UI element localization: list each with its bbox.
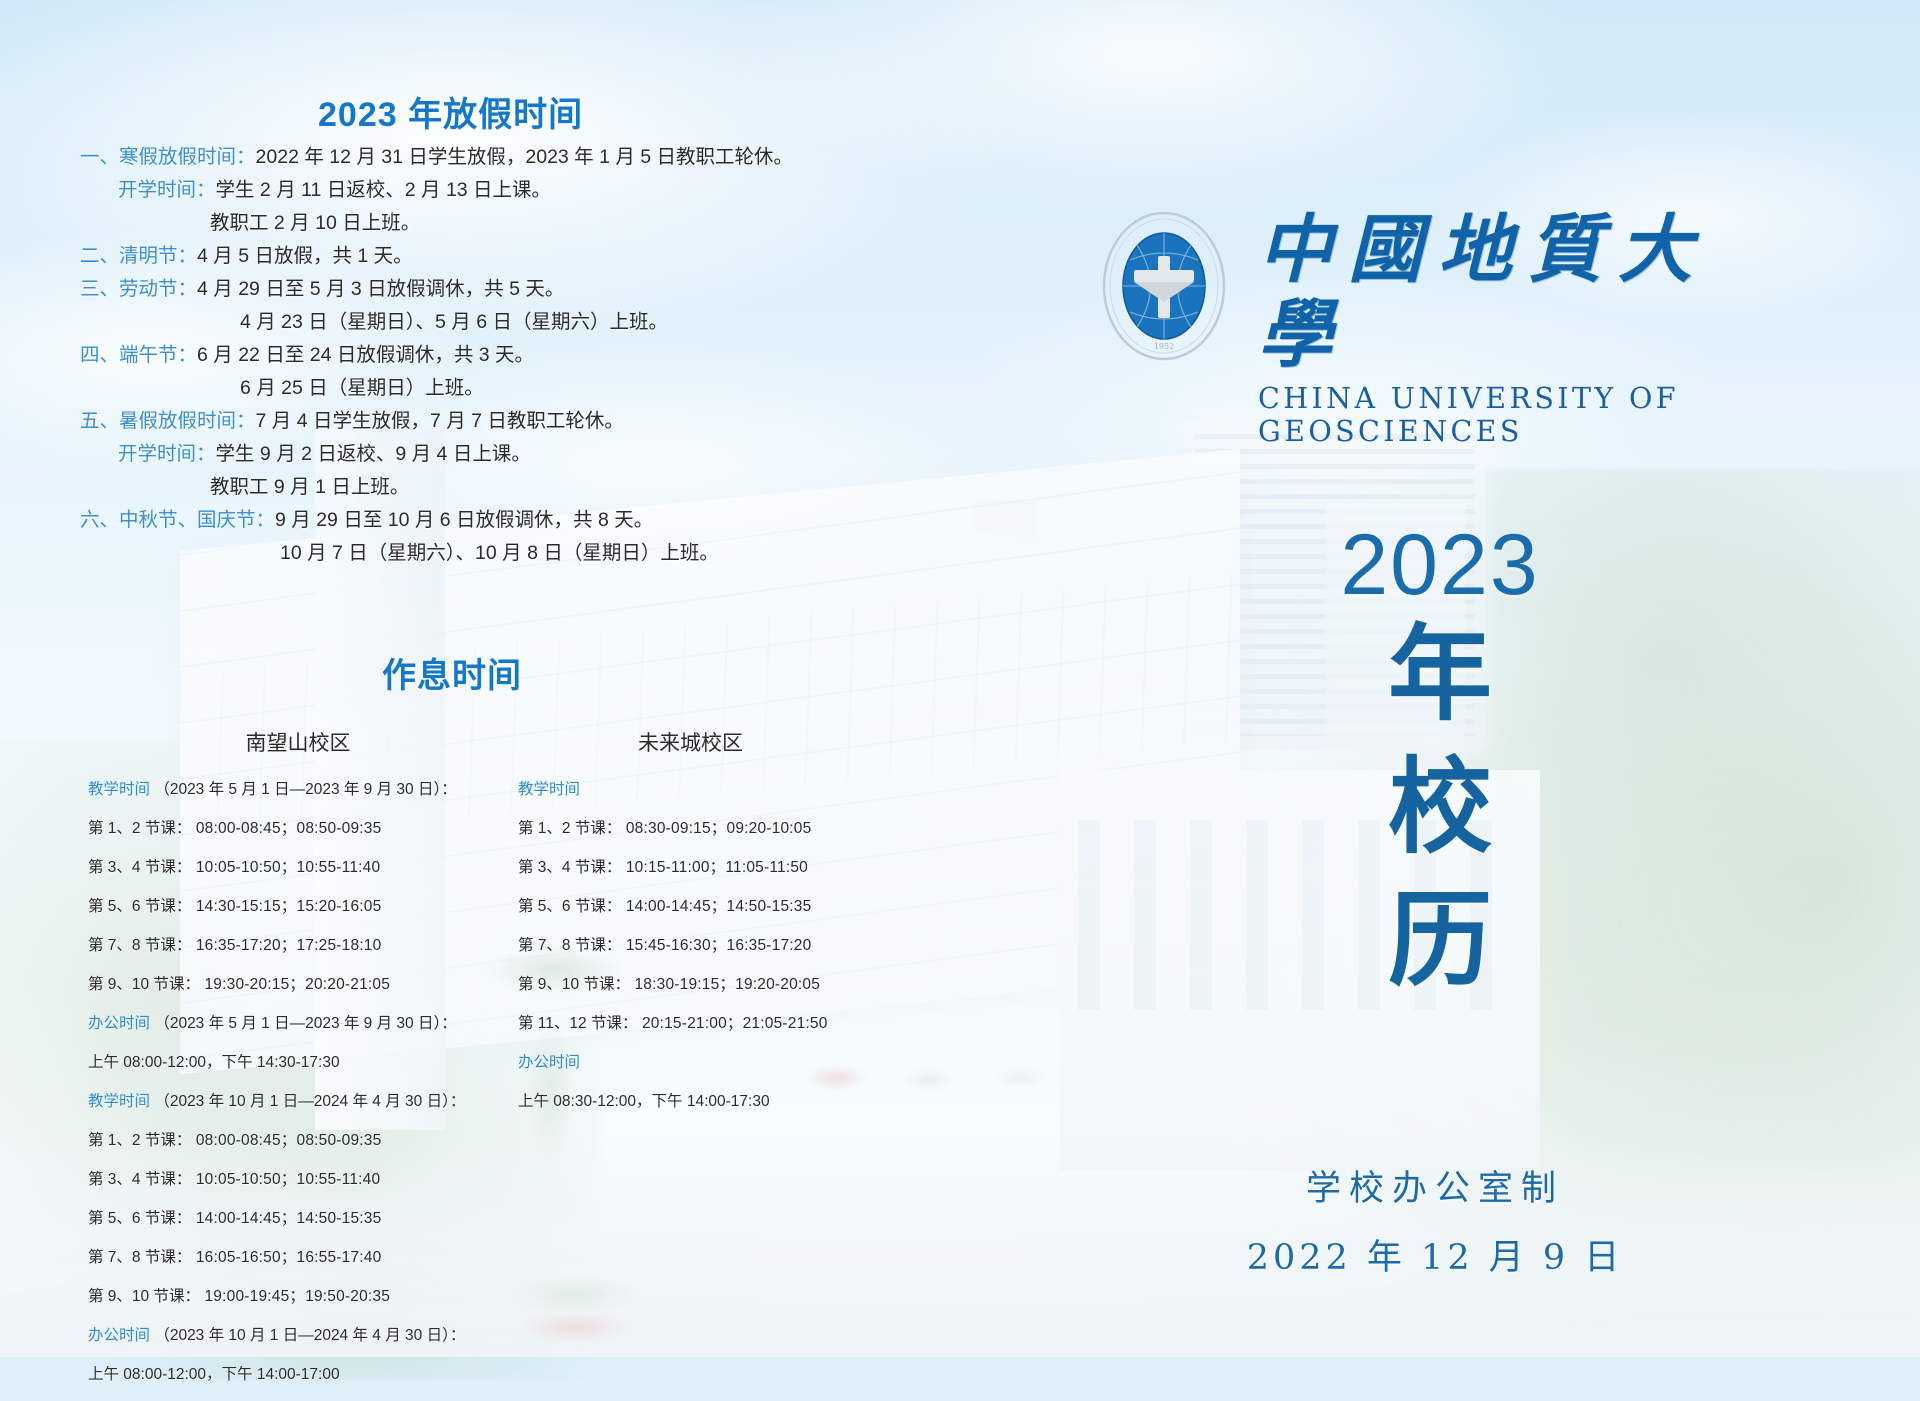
holiday-row: 六、中秋节、国庆节：9 月 29 日至 10 月 6 日放假调休，共 8 天。: [80, 511, 900, 531]
holiday-row-number: 五、: [80, 410, 119, 432]
holiday-row-text: 4 月 5 日放假，共 1 天。: [197, 245, 413, 267]
holiday-row-label: 开学时间：: [118, 443, 216, 465]
campus-b-title: 未来城校区: [518, 727, 948, 757]
holiday-row-label: 寒假放假时间：: [119, 146, 256, 168]
holiday-row-text: 学生 9 月 2 日返校、9 月 4 日上课。: [216, 443, 531, 465]
holiday-row-number: 三、: [80, 278, 119, 300]
schedule-row-label: 上午 08:00-12:00，下午 14:30-17:30: [88, 1050, 340, 1072]
schedule-row-times: 20:15-21:00；21:05-21:50: [637, 1015, 827, 1032]
schedule-row-times: 14:00-14:45；14:50-15:35: [191, 1210, 381, 1227]
signature-block: 学校办公室制 2022 年 12 月 9 日: [1215, 1160, 1655, 1280]
schedule-row: 上午 08:30-12:00，下午 14:00-17:30: [518, 1089, 948, 1111]
schedule-row: 第 9、10 节课： 19:30-20:15；20:20-21:05: [88, 972, 508, 994]
schedule-row-label: 第 5、6 节课：: [88, 894, 191, 916]
schedule-row-times: 10:15-11:00；11:05-11:50: [621, 859, 808, 876]
campus-a-title: 南望山校区: [88, 727, 508, 757]
holiday-row-text: 6 月 25 日（星期日）上班。: [240, 377, 484, 399]
schedule-row-label: 第 5、6 节课：: [88, 1206, 191, 1228]
schedule-row: 第 3、4 节课： 10:15-11:00；11:05-11:50: [518, 855, 948, 877]
holiday-row-text: 教职工 2 月 10 日上班。: [210, 212, 420, 234]
holiday-row: 4 月 23 日（星期日）、5 月 6 日（星期六）上班。: [80, 313, 900, 333]
schedule-row-times: 16:05-16:50；16:55-17:40: [191, 1249, 381, 1266]
schedule-block-label: 教学时间: [88, 781, 150, 798]
schedule-row: 第 9、10 节课： 18:30-19:15；19:20-20:05: [518, 972, 948, 994]
holiday-row: 三、劳动节：4 月 29 日至 5 月 3 日放假调休，共 5 天。: [80, 280, 900, 300]
schedule-row-label: 第 9、10 节课：: [88, 972, 200, 994]
schedule-row-times: 15:45-16:30；16:35-17:20: [621, 937, 811, 954]
schedule-block-heading: 办公时间 （2023 年 10 月 1 日—2024 年 4 月 30 日）：: [88, 1323, 508, 1345]
schedule-block-heading: 办公时间: [518, 1050, 948, 1072]
holiday-section-heading: 2023 年放假时间: [318, 87, 583, 136]
schedule-block-range: （2023 年 5 月 1 日—2023 年 9 月 30 日）：: [150, 781, 457, 798]
holiday-row: 6 月 25 日（星期日）上班。: [80, 379, 900, 399]
logo-wordmark: 中國地質大學 CHINA UNIVERSITY OF GEOSCIENCES: [1258, 208, 1790, 448]
holiday-row: 10 月 7 日（星期六）、10 月 8 日（星期日）上班。: [80, 544, 900, 564]
schedule-row: 第 1、2 节课： 08:30-09:15；09:20-10:05: [518, 816, 948, 838]
schedule-row: 上午 08:00-12:00，下午 14:30-17:30: [88, 1050, 508, 1072]
schedule-row-label: 第 1、2 节课：: [88, 1128, 191, 1150]
schedule-row-times: 18:30-19:15；19:20-20:05: [630, 976, 820, 993]
schedule-block-heading: 教学时间: [518, 777, 948, 799]
schedule-row-times: 10:05-10:50；10:55-11:40: [191, 859, 380, 876]
schedule-row-times: 19:00-19:45；19:50-20:35: [200, 1288, 390, 1305]
schedule-row-label: 第 11、12 节课：: [518, 1011, 637, 1033]
holiday-row-text: 7 月 4 日学生放假，7 月 7 日教职工轮休。: [256, 410, 624, 432]
holiday-row-text: 学生 2 月 11 日返校、2 月 13 日上课。: [216, 179, 552, 201]
schedule-row-label: 上午 08:00-12:00，下午 14:00-17:00: [88, 1362, 340, 1384]
schedule-row-label: 第 3、4 节课：: [88, 855, 191, 877]
big-title-chars: 年校历: [1340, 607, 1540, 1006]
holiday-list: 一、寒假放假时间：2022 年 12 月 31 日学生放假，2023 年 1 月…: [80, 148, 900, 577]
schedule-row-label: 第 3、4 节课：: [518, 855, 621, 877]
holiday-row: 一、寒假放假时间：2022 年 12 月 31 日学生放假，2023 年 1 月…: [80, 148, 900, 168]
schedule-block-label: 办公时间: [88, 1327, 150, 1344]
calendar-big-title: 2023 年校历: [1340, 525, 1540, 1006]
schedule-row-label: 第 1、2 节课：: [88, 816, 191, 838]
holiday-row-label: 清明节：: [119, 245, 197, 267]
holiday-row-number: 四、: [80, 344, 119, 366]
university-crest-icon: 1952: [1100, 210, 1228, 362]
holiday-row-label: 暑假放假时间：: [119, 410, 256, 432]
schedule-block-range: （2023 年 5 月 1 日—2023 年 9 月 30 日）：: [150, 1015, 457, 1032]
schedule-block-heading: 教学时间 （2023 年 5 月 1 日—2023 年 9 月 30 日）：: [88, 777, 508, 799]
schedule-row-label: 第 1、2 节课：: [518, 816, 621, 838]
schedule-row: 第 7、8 节课： 16:05-16:50；16:55-17:40: [88, 1245, 508, 1267]
holiday-row-text: 教职工 9 月 1 日上班。: [210, 476, 409, 498]
holiday-row: 开学时间：学生 2 月 11 日返校、2 月 13 日上课。: [80, 181, 900, 201]
schedule-row: 第 9、10 节课： 19:00-19:45；19:50-20:35: [88, 1284, 508, 1306]
holiday-row-number: 二、: [80, 245, 119, 267]
schedule-row-times: 08:00-08:45；08:50-09:35: [191, 820, 381, 837]
holiday-row-text: 2022 年 12 月 31 日学生放假，2023 年 1 月 5 日教职工轮休…: [256, 146, 794, 168]
holiday-row-text: 4 月 29 日至 5 月 3 日放假调休，共 5 天。: [197, 278, 564, 300]
schedule-row-times: 14:00-14:45；14:50-15:35: [621, 898, 811, 915]
schedule-row-label: 上午 08:30-12:00，下午 14:00-17:30: [518, 1089, 770, 1111]
schedule-block-label: 教学时间: [88, 1093, 150, 1110]
schedule-row: 第 7、8 节课： 16:35-17:20；17:25-18:10: [88, 933, 508, 955]
big-title-char: 校: [1340, 740, 1540, 873]
holiday-row: 五、暑假放假时间：7 月 4 日学生放假，7 月 7 日教职工轮休。: [80, 412, 900, 432]
schedule-row: 上午 08:00-12:00，下午 14:00-17:00: [88, 1362, 508, 1384]
schedule-row-label: 第 5、6 节课：: [518, 894, 621, 916]
big-title-char: 年: [1340, 607, 1540, 740]
holiday-row: 教职工 2 月 10 日上班。: [80, 214, 900, 234]
schedule-row: 第 1、2 节课： 08:00-08:45；08:50-09:35: [88, 816, 508, 838]
schedule-row-label: 第 7、8 节课：: [88, 1245, 191, 1267]
schedule-row-label: 第 3、4 节课：: [88, 1167, 191, 1189]
schedule-row-label: 第 9、10 节课：: [518, 972, 630, 994]
schedule-row-times: 14:30-15:15；15:20-16:05: [191, 898, 381, 915]
schedule-section-heading: 作息时间: [382, 648, 522, 697]
schedule-row: 第 3、4 节课： 10:05-10:50；10:55-11:40: [88, 855, 508, 877]
schedule-block-range: （2023 年 10 月 1 日—2024 年 4 月 30 日）：: [150, 1327, 465, 1344]
schedule-block-label: 办公时间: [88, 1015, 150, 1032]
logo-wordmark-cn: 中國地質大學: [1258, 208, 1790, 378]
schedule-row: 第 7、8 节课： 15:45-16:30；16:35-17:20: [518, 933, 948, 955]
holiday-row-text: 6 月 22 日至 24 日放假调休，共 3 天。: [197, 344, 534, 366]
holiday-row-label: 端午节：: [119, 344, 197, 366]
schedule-row-label: 第 7、8 节课：: [518, 933, 621, 955]
big-title-year: 2023: [1340, 525, 1540, 607]
holiday-row: 开学时间：学生 9 月 2 日返校、9 月 4 日上课。: [80, 445, 900, 465]
holiday-row-number: 一、: [80, 146, 119, 168]
campus-b-blocks: 教学时间第 1、2 节课： 08:30-09:15；09:20-10:05第 3…: [518, 777, 948, 1111]
schedule-row-times: 10:05-10:50；10:55-11:40: [191, 1171, 380, 1188]
schedule-block-label: 教学时间: [518, 781, 580, 798]
schedule-row-times: 08:00-08:45；08:50-09:35: [191, 1132, 381, 1149]
campus-schedule-weilaicheng: 未来城校区 教学时间第 1、2 节课： 08:30-09:15；09:20-10…: [518, 727, 948, 1128]
schedule-block-label: 办公时间: [518, 1054, 580, 1071]
holiday-row: 教职工 9 月 1 日上班。: [80, 478, 900, 498]
campus-schedule-nanwangshan: 南望山校区 教学时间 （2023 年 5 月 1 日—2023 年 9 月 30…: [88, 727, 508, 1401]
schedule-row-times: 16:35-17:20；17:25-18:10: [191, 937, 381, 954]
holiday-row: 二、清明节：4 月 5 日放假，共 1 天。: [80, 247, 900, 267]
logo-wordmark-en: CHINA UNIVERSITY OF GEOSCIENCES: [1258, 382, 1790, 448]
holiday-row-label: 开学时间：: [118, 179, 216, 201]
schedule-row: 第 5、6 节课： 14:00-14:45；14:50-15:35: [518, 894, 948, 916]
issue-date: 2022 年 12 月 9 日: [1215, 1229, 1655, 1280]
holiday-row-number: 六、: [80, 509, 119, 531]
schedule-row: 第 11、12 节课： 20:15-21:00；21:05-21:50: [518, 1011, 948, 1033]
holiday-row-label: 劳动节：: [119, 278, 197, 300]
schedule-block-range: （2023 年 10 月 1 日—2024 年 4 月 30 日）：: [150, 1093, 465, 1110]
svg-text:1952: 1952: [1154, 342, 1174, 351]
schedule-row: 第 1、2 节课： 08:00-08:45；08:50-09:35: [88, 1128, 508, 1150]
schedule-row-label: 第 9、10 节课：: [88, 1284, 200, 1306]
holiday-row-text: 9 月 29 日至 10 月 6 日放假调休，共 8 天。: [275, 509, 653, 531]
university-logo: 1952 中國地質大學 CHINA UNIVERSITY OF GEOSCIEN…: [1090, 200, 1790, 380]
schedule-row-label: 第 7、8 节课：: [88, 933, 191, 955]
campus-a-blocks: 教学时间 （2023 年 5 月 1 日—2023 年 9 月 30 日）：第 …: [88, 777, 508, 1384]
schedule-row: 第 5、6 节课： 14:00-14:45；14:50-15:35: [88, 1206, 508, 1228]
schedule-block-heading: 办公时间 （2023 年 5 月 1 日—2023 年 9 月 30 日）：: [88, 1011, 508, 1033]
schedule-row-times: 08:30-09:15；09:20-10:05: [621, 820, 811, 837]
holiday-row-text: 4 月 23 日（星期日）、5 月 6 日（星期六）上班。: [240, 311, 668, 333]
schedule-row: 第 5、6 节课： 14:30-15:15；15:20-16:05: [88, 894, 508, 916]
issuing-office: 学校办公室制: [1215, 1160, 1655, 1211]
schedule-row-times: 19:30-20:15；20:20-21:05: [200, 976, 390, 993]
holiday-row: 四、端午节：6 月 22 日至 24 日放假调休，共 3 天。: [80, 346, 900, 366]
holiday-row-text: 10 月 7 日（星期六）、10 月 8 日（星期日）上班。: [280, 542, 719, 564]
schedule-row: 第 3、4 节课： 10:05-10:50；10:55-11:40: [88, 1167, 508, 1189]
schedule-block-heading: 教学时间 （2023 年 10 月 1 日—2024 年 4 月 30 日）：: [88, 1089, 508, 1111]
big-title-char: 历: [1340, 873, 1540, 1006]
holiday-row-label: 中秋节、国庆节：: [119, 509, 275, 531]
